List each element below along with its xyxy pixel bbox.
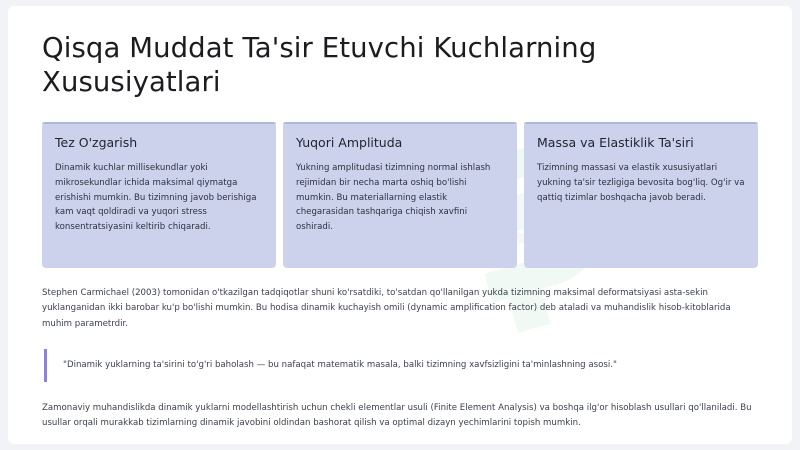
feature-cards: Tez O'zgarish Dinamik kuchlar millisekun… <box>42 122 758 268</box>
card-tez-ozgarish: Tez O'zgarish Dinamik kuchlar millisekun… <box>42 122 276 268</box>
slide-canvas: soff Qisqa Muddat Ta'sir Etuvchi Kuchlar… <box>8 6 792 444</box>
card-yuqori-amplituda: Yuqori Amplituda Yukning amplitudasi tiz… <box>283 122 517 268</box>
card-body: Dinamik kuchlar millisekundlar yoki mikr… <box>55 161 264 235</box>
card-title: Massa va Elastiklik Ta'siri <box>537 135 746 150</box>
card-massa-va-elastiklik: Massa va Elastiklik Ta'siri Tizimning ma… <box>524 122 758 268</box>
slide-content: Qisqa Muddat Ta'sir Etuvchi Kuchlarning … <box>8 6 792 431</box>
card-title: Tez O'zgarish <box>55 135 264 150</box>
body-paragraph-1: Stephen Carmichael (2003) tomonidan o'tk… <box>42 286 758 332</box>
body-paragraph-2: Zamonaviy muhandislikda dinamik yuklarni… <box>42 401 758 432</box>
page-title: Qisqa Muddat Ta'sir Etuvchi Kuchlarning … <box>42 32 758 99</box>
pull-quote: "Dinamik yuklarning ta'sirini to'g'ri ba… <box>44 349 758 382</box>
card-body: Tizimning massasi va elastik xususiyatla… <box>537 161 746 205</box>
card-body: Yukning amplitudasi tizimning normal ish… <box>296 161 505 235</box>
card-title: Yuqori Amplituda <box>296 135 505 150</box>
